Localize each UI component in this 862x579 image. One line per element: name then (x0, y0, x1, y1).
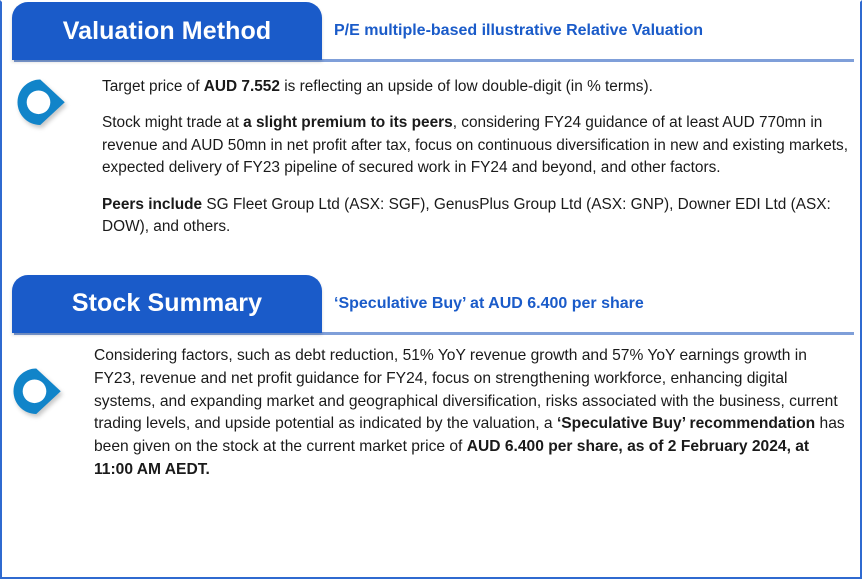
text-run: Stock might trade at (102, 114, 243, 131)
section-header-valuation: Valuation Method P/E multiple-based illu… (2, 2, 860, 62)
text-run-bold: ‘Speculative Buy’ recommendation (557, 415, 815, 432)
paragraph-target-price: Target price of AUD 7.552 is reflecting … (102, 76, 852, 98)
section-tab-label: Valuation Method (63, 17, 272, 46)
section-spacer (2, 239, 860, 275)
paragraph-premium-rationale: Stock might trade at a slight premium to… (102, 112, 852, 179)
pin-circle-icon (14, 76, 70, 132)
paragraph-list-valuation: Target price of AUD 7.552 is reflecting … (102, 76, 852, 239)
text-run: SG Fleet Group Ltd (ASX: SGF), GenusPlus… (102, 196, 831, 235)
paragraph-peers: Peers include SG Fleet Group Ltd (ASX: S… (102, 194, 852, 239)
valuation-summary-card: Valuation Method P/E multiple-based illu… (0, 0, 862, 579)
paragraph-recommendation: Considering factors, such as debt reduct… (94, 345, 852, 482)
pin-circle-icon (10, 365, 66, 421)
section-subtitle-summary: ‘Speculative Buy’ at AUD 6.400 per share (334, 275, 644, 333)
text-run: Target price of (102, 78, 204, 95)
section-subtitle-valuation: P/E multiple-based illustrative Relative… (334, 2, 703, 60)
section-header-summary: Stock Summary ‘Speculative Buy’ at AUD 6… (2, 275, 860, 335)
text-run-bold: a slight premium to its peers (243, 114, 453, 131)
section-tab-valuation: Valuation Method (12, 2, 322, 60)
text-run: is reflecting an upside of low double-di… (280, 78, 653, 95)
paragraph-list-summary: Considering factors, such as debt reduct… (94, 345, 852, 482)
section-tab-summary: Stock Summary (12, 275, 322, 333)
section-tab-label: Stock Summary (72, 289, 262, 318)
text-run-bold: AUD 7.552 (204, 78, 280, 95)
section-body-summary: Considering factors, such as debt reduct… (2, 335, 860, 482)
text-run-bold: Peers include (102, 196, 202, 213)
section-body-valuation: Target price of AUD 7.552 is reflecting … (2, 62, 860, 239)
